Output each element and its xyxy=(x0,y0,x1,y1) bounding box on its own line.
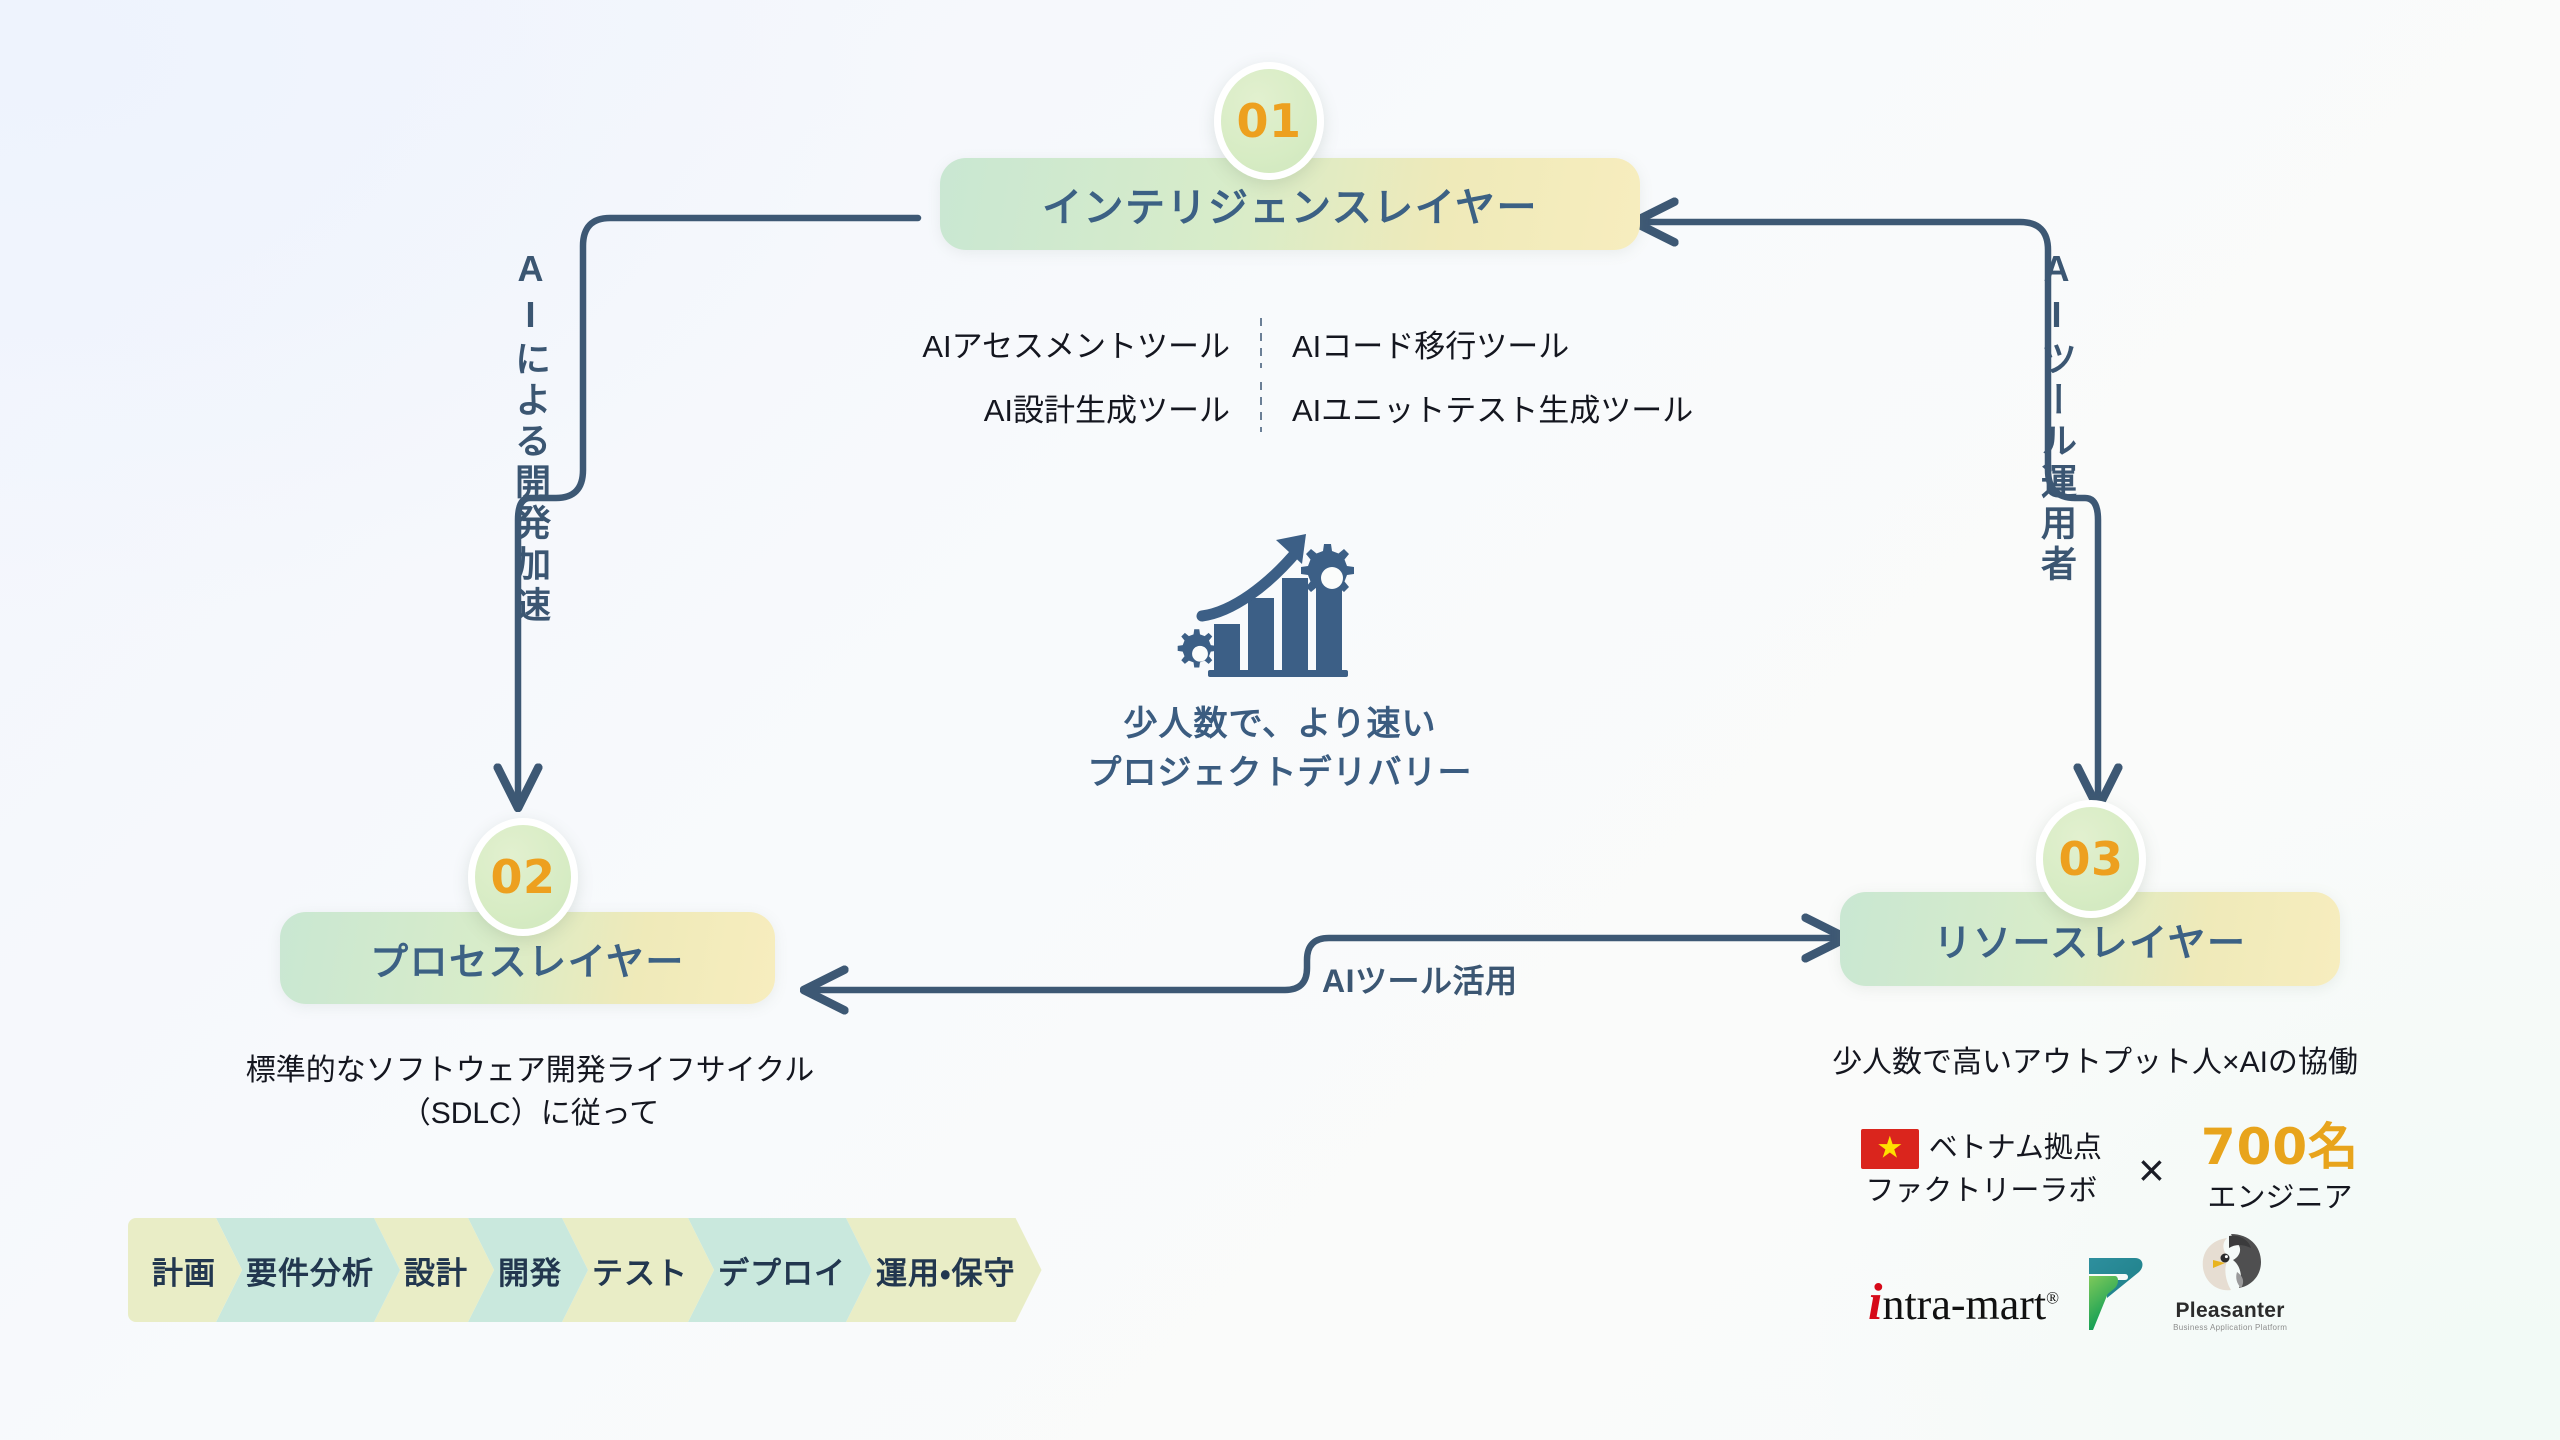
sdlc-step: 運用・保守 xyxy=(846,1218,1042,1322)
center-caption-line2: プロジェクトデリバリー xyxy=(960,749,1600,798)
badge-03: 03 xyxy=(2036,800,2146,918)
arrow-resource-to-intelligence xyxy=(1642,222,2098,800)
label-ai-tool-utilization: AIツール活用 xyxy=(1322,956,1518,1002)
sdlc-step: デプロイ xyxy=(688,1218,872,1322)
pill-process-label: プロセスレイヤー xyxy=(370,931,685,986)
sdlc-chevron-flow: 計画要件分析設計開発テストデプロイ運用・保守 xyxy=(128,1218,1016,1322)
diagram-canvas: 01 インテリジェンスレイヤー AIアセスメントツール AIコード移行ツール A… xyxy=(0,0,2560,1440)
center-caption: 少人数で、より速い プロジェクトデリバリー xyxy=(960,700,1600,799)
arrow-intelligence-to-process xyxy=(518,218,918,800)
pill-resource-label: リソースレイヤー xyxy=(1934,912,2247,967)
growth-chart-gears-icon xyxy=(1172,520,1372,680)
sdlc-step: 要件分析 xyxy=(216,1218,400,1322)
badge-02: 02 xyxy=(468,818,578,936)
center-caption-line1: 少人数で、より速い xyxy=(960,700,1600,749)
badge-01: 01 xyxy=(1214,62,1324,180)
pill-intelligence-label: インテリジェンスレイヤー xyxy=(1042,175,1538,233)
